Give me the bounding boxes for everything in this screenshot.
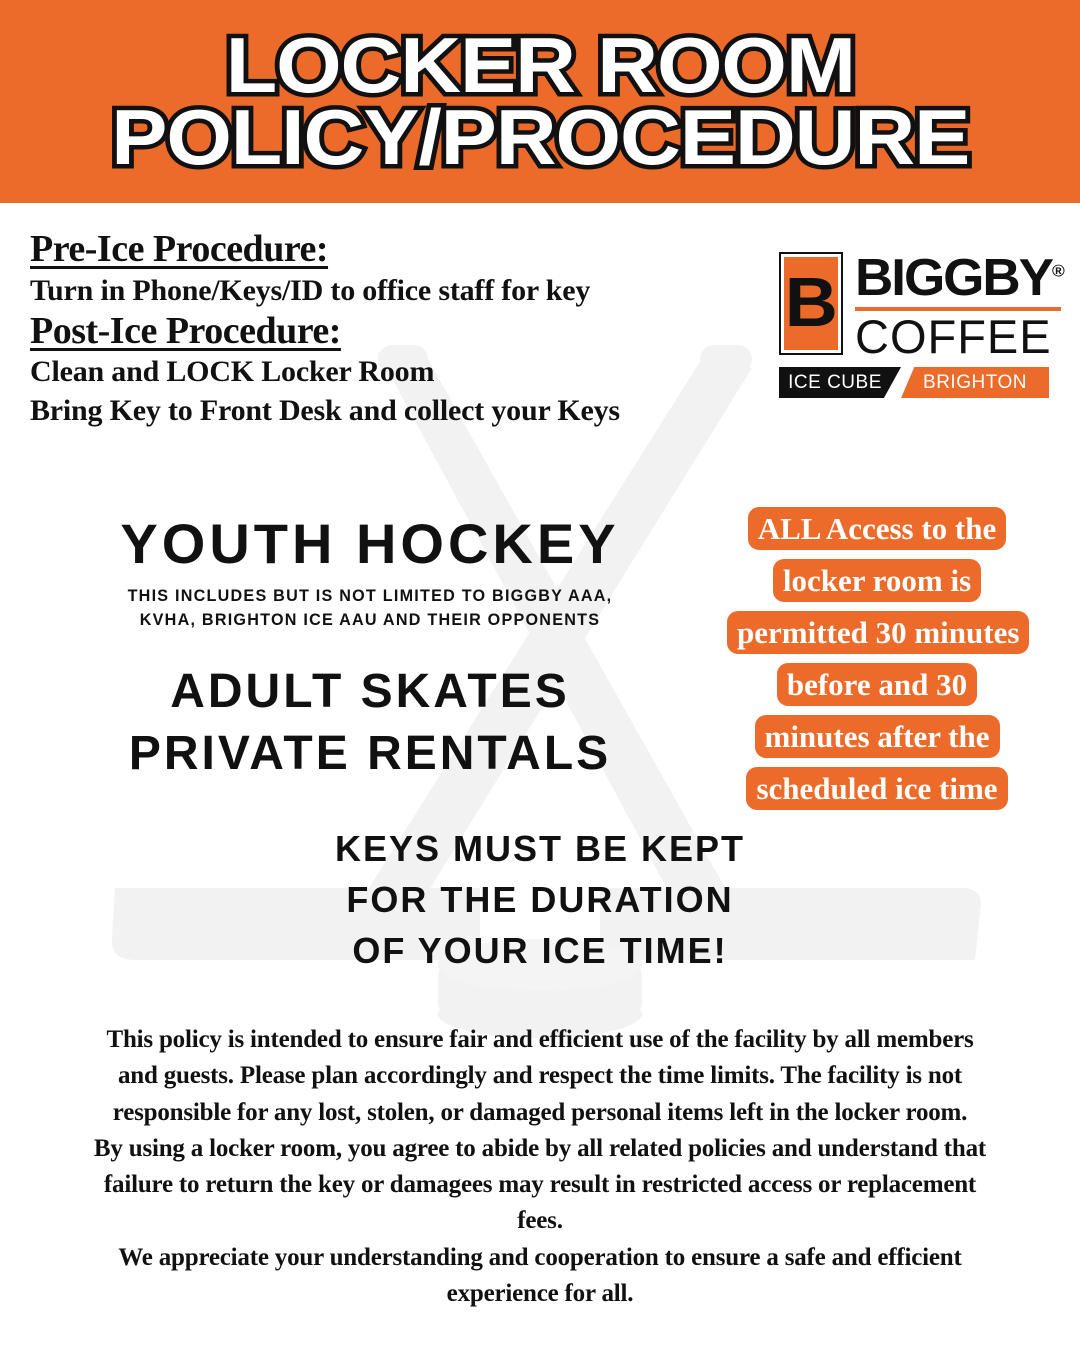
logo-brand-name: BIGGBY® bbox=[855, 252, 1065, 304]
poster-title-line-1: LOCKER ROOM bbox=[225, 30, 854, 102]
logo-product-name: COFFEE bbox=[855, 313, 1061, 360]
biggby-b-letter: B bbox=[784, 267, 837, 337]
policy-paragraph-3: We appreciate your understanding and coo… bbox=[90, 1240, 990, 1313]
youth-hockey-subtext: THIS INCLUDES BUT IS NOT LIMITED TO BIGG… bbox=[47, 584, 693, 633]
keys-notice-line-3: OF YOUR ICE TIME! bbox=[240, 925, 840, 976]
pre-ice-procedure-heading: Pre-Ice Procedure: bbox=[30, 228, 750, 271]
access-callout: ALL Access to the locker room is permitt… bbox=[727, 503, 1027, 815]
policy-footer: This policy is intended to ensure fair a… bbox=[90, 1022, 990, 1312]
procedures-section: Pre-Ice Procedure: Turn in Phone/Keys/ID… bbox=[30, 228, 750, 430]
post-ice-procedure-heading: Post-Ice Procedure: bbox=[30, 310, 750, 353]
logo-top-row: B BIGGBY® COFFEE bbox=[779, 252, 1049, 360]
youth-hockey-subtext-line-2: KVHA, BRIGHTON ICE AAU AND THEIR OPPONEN… bbox=[47, 608, 693, 633]
biggby-b-mark-fill: B bbox=[784, 257, 838, 350]
logo-banner-brighton: BRIGHTON bbox=[901, 367, 1049, 398]
policy-paragraph-2: By using a locker room, you agree to abi… bbox=[90, 1131, 990, 1240]
category-private-rentals: PRIVATE RENTALS bbox=[30, 723, 710, 785]
logo-wordmark: BIGGBY® COFFEE bbox=[855, 252, 1061, 360]
access-callout-text-wrap: ALL Access to the locker room is permitt… bbox=[727, 503, 1027, 815]
policy-paragraph-1: This policy is intended to ensure fair a… bbox=[90, 1022, 990, 1131]
youth-hockey-subtext-line-1: THIS INCLUDES BUT IS NOT LIMITED TO BIGG… bbox=[47, 584, 693, 609]
keys-notice-line-1: KEYS MUST BE KEPT bbox=[240, 823, 840, 874]
category-block: ADULT SKATES PRIVATE RENTALS bbox=[30, 661, 710, 786]
registered-trademark-icon: ® bbox=[1052, 262, 1065, 281]
access-callout-text: ALL Access to the locker room is permitt… bbox=[727, 507, 1029, 810]
logo-banner-ice-cube: ICE CUBE bbox=[779, 367, 901, 398]
header-banner: LOCKER ROOM POLICY/PROCEDURE bbox=[0, 0, 1080, 203]
pre-ice-procedure-item-1: Turn in Phone/Keys/ID to office staff fo… bbox=[30, 271, 750, 310]
poster-canvas: LOCKER ROOM POLICY/PROCEDURE Pre-Ice Pro… bbox=[0, 0, 1080, 1350]
logo-location-banner: ICE CUBE BRIGHTON bbox=[779, 367, 1049, 398]
logo-brand-text: BIGGBY bbox=[855, 249, 1052, 307]
keys-notice: KEYS MUST BE KEPT FOR THE DURATION OF YO… bbox=[240, 823, 840, 976]
category-youth-hockey: YOUTH HOCKEY bbox=[30, 515, 710, 574]
biggby-b-mark-icon: B bbox=[779, 252, 843, 355]
biggby-coffee-logo: B BIGGBY® COFFEE ICE CUBE BRIGHTON bbox=[779, 252, 1049, 398]
poster-title-line-2: POLICY/PROCEDURE bbox=[111, 102, 969, 174]
keys-notice-line-2: FOR THE DURATION bbox=[240, 874, 840, 925]
categories-section: YOUTH HOCKEY THIS INCLUDES BUT IS NOT LI… bbox=[30, 515, 710, 786]
post-ice-procedure-item-2: Bring Key to Front Desk and collect your… bbox=[30, 391, 750, 430]
category-adult-skates: ADULT SKATES bbox=[30, 661, 710, 723]
post-ice-procedure-item-1: Clean and LOCK Locker Room bbox=[30, 352, 750, 391]
